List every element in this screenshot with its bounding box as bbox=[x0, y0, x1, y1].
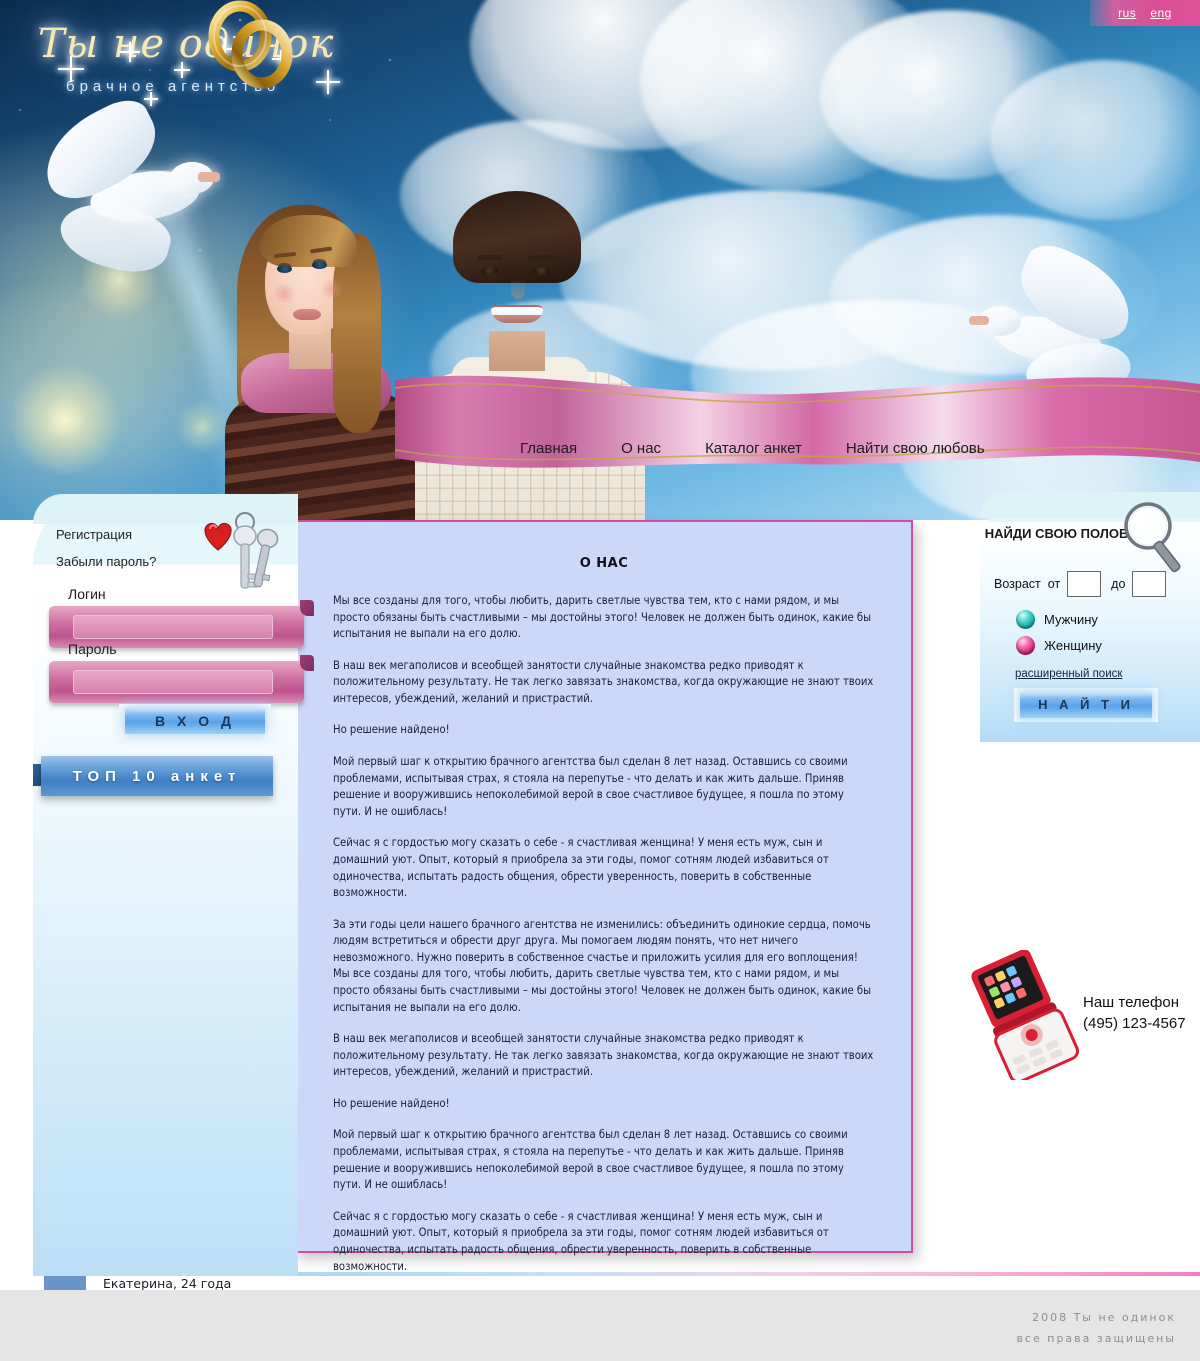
content-paragraph: В наш век мегаполисов и всеобщей занятос… bbox=[333, 1031, 875, 1081]
radio-male-icon[interactable] bbox=[1016, 610, 1035, 629]
footer-copyright: 2008 Ты не одинок bbox=[1016, 1308, 1176, 1329]
lang-link-rus[interactable]: rus bbox=[1118, 6, 1136, 20]
content-paragraph: Мой первый шаг к открытию брачного агент… bbox=[333, 1127, 875, 1193]
forgot-password-link[interactable]: Забыли пароль? bbox=[56, 554, 156, 569]
gender-male-label: Мужчину bbox=[1044, 612, 1098, 627]
gender-option-female[interactable]: Женщину bbox=[1016, 636, 1102, 655]
mobile-phone-icon bbox=[965, 950, 1085, 1080]
age-from-input[interactable] bbox=[1067, 571, 1101, 597]
content-paragraph: Но решение найдено! bbox=[333, 1096, 875, 1113]
ribbon-tail bbox=[300, 600, 314, 616]
page-footer: 2008 Ты не одинок все права защищены bbox=[0, 1290, 1200, 1361]
age-to-input[interactable] bbox=[1132, 571, 1166, 597]
language-switcher[interactable]: rus eng bbox=[1090, 0, 1200, 26]
content-paragraph: Мы все созданы для того, чтобы любить, д… bbox=[333, 593, 875, 643]
content-paragraph: Но решение найдено! bbox=[333, 722, 875, 739]
age-filter-row: Возраст от до bbox=[994, 570, 1194, 598]
phone-text: Наш телефон (495) 123-4567 bbox=[1083, 994, 1200, 1032]
profile-name: Екатерина, 24 года bbox=[103, 1276, 231, 1291]
contact-phone-block: Наш телефон (495) 123-4567 bbox=[965, 950, 1200, 1090]
left-sidebar: Регистрация Забыли пароль? Логин bbox=[33, 494, 298, 1276]
password-input[interactable] bbox=[73, 670, 273, 694]
password-label: Пароль bbox=[68, 641, 117, 657]
search-submit-button[interactable]: Н А Й Т И bbox=[1014, 688, 1158, 722]
main-content-panel: О НАС Мы все созданы для того, чтобы люб… bbox=[293, 520, 913, 1253]
main-navigation-ribbon: Главная О нас Каталог анкет Найти свою л… bbox=[395, 358, 1200, 476]
top10-heading: ТОП 10 анкет bbox=[41, 756, 273, 796]
dove-icon-left bbox=[30, 110, 240, 290]
content-paragraph: За эти годы цели нашего брачного агентст… bbox=[333, 917, 875, 967]
age-label: Возраст bbox=[994, 577, 1041, 591]
register-link[interactable]: Регистрация bbox=[56, 527, 132, 542]
search-panel: НАЙДИ СВОЮ ПОЛОВИНУ Возраст от до Мужчин… bbox=[980, 492, 1200, 742]
footer-rights: все права защищены bbox=[1016, 1329, 1176, 1350]
wedding-rings-icon bbox=[200, 0, 300, 96]
lang-link-eng[interactable]: eng bbox=[1150, 6, 1172, 20]
search-submit-label: Н А Й Т И bbox=[1020, 692, 1152, 718]
login-submit-button[interactable]: В Х О Д bbox=[119, 704, 271, 738]
logo-title: Ты не одинок bbox=[24, 24, 354, 64]
content-paragraph: Сейчас я с гордостью могу сказать о себе… bbox=[333, 835, 875, 901]
content-paragraph: В наш век мегаполисов и всеобщей занятос… bbox=[333, 658, 875, 708]
gender-female-label: Женщину bbox=[1044, 638, 1102, 653]
radio-female-icon[interactable] bbox=[1016, 636, 1035, 655]
page-title: О НАС bbox=[333, 556, 875, 571]
logo-subtitle: брачное агентство bbox=[24, 78, 354, 95]
top10-banner: ТОП 10 анкет bbox=[33, 752, 273, 800]
nav-links[interactable]: Главная О нас Каталог анкет Найти свою л… bbox=[395, 358, 1200, 476]
login-submit-label: В Х О Д bbox=[125, 708, 265, 734]
site-logo[interactable]: Ты не одинок брачное агентство bbox=[24, 24, 354, 124]
page-root: Ты не одинок брачное агентство rus eng bbox=[0, 0, 1200, 1361]
nav-item-home[interactable]: Главная bbox=[520, 440, 577, 457]
search-icon bbox=[1116, 498, 1194, 578]
content-paragraph: Сейчас я с гордостью могу сказать о себе… bbox=[333, 1209, 875, 1275]
light-glow bbox=[10, 365, 120, 475]
age-from-label: от bbox=[1048, 577, 1060, 591]
keys-heart-icon bbox=[201, 508, 285, 608]
ribbon-tail bbox=[300, 655, 314, 671]
advanced-search-link[interactable]: расширенный поиск bbox=[1015, 668, 1122, 680]
content-paragraph: Мой первый шаг к открытию брачного агент… bbox=[333, 754, 875, 820]
nav-item-find-love[interactable]: Найти свою любовь bbox=[846, 440, 985, 457]
password-field-wrap bbox=[49, 661, 304, 703]
login-input[interactable] bbox=[73, 615, 273, 639]
phone-number[interactable]: (495) 123-4567 bbox=[1083, 1015, 1200, 1032]
nav-item-about[interactable]: О нас bbox=[621, 440, 661, 457]
age-to-label: до bbox=[1111, 577, 1125, 591]
nav-item-catalog[interactable]: Каталог анкет bbox=[705, 440, 802, 457]
login-label: Логин bbox=[68, 586, 106, 602]
gender-option-male[interactable]: Мужчину bbox=[1016, 610, 1098, 629]
phone-label: Наш телефон bbox=[1083, 994, 1200, 1011]
footer-text: 2008 Ты не одинок все права защищены bbox=[1016, 1308, 1176, 1350]
content-paragraph: Мы все созданы для того, чтобы любить, д… bbox=[333, 966, 875, 1016]
